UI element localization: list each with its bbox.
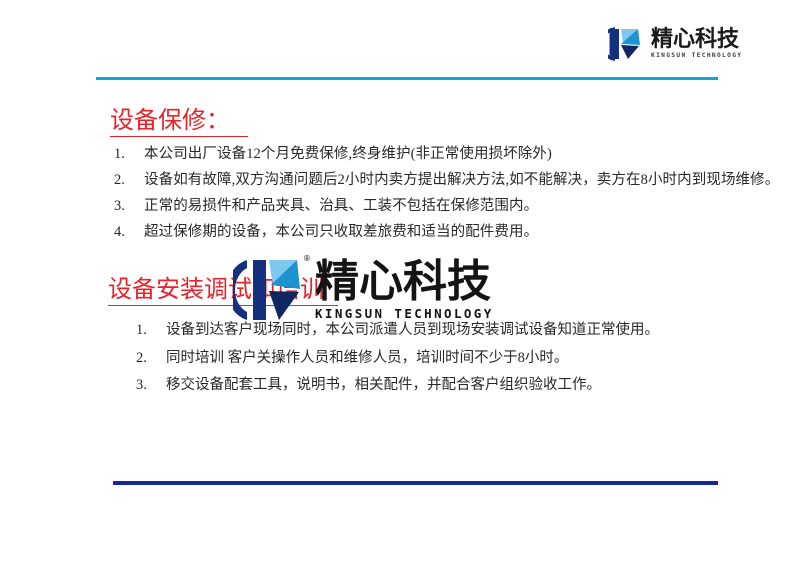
watermark-name-en: KINGSUN TECHNOLOGY xyxy=(315,308,494,321)
list-item: 4. 超过保修期的设备，本公司只收取差旅费和适当的配件费用。 xyxy=(114,222,794,243)
list-item-number: 1. xyxy=(136,320,158,341)
header-brand-logo: 精心科技 KINGSUN TECHNOLOGY xyxy=(608,20,768,68)
list-item: 1. 设备到达客户现场同时，本公司派遣人员到现场安装调试设备知道正常使用。 xyxy=(136,320,796,341)
list-item: 2. 同时培训 客户关操作人员和维修人员，培训时间不少于8小时。 xyxy=(136,348,796,369)
header-divider-rule xyxy=(96,77,718,80)
list-item-number: 4. xyxy=(114,222,136,243)
list-item-number: 3. xyxy=(136,375,158,396)
brand-name-cn: 精心科技 xyxy=(651,29,742,51)
footer-divider-rule xyxy=(113,481,718,485)
list-item-number: 2. xyxy=(114,170,136,191)
list-item-text: 超过保修期的设备，本公司只收取差旅费和适当的配件费用。 xyxy=(144,222,794,243)
slide-canvas: 精心科技 KINGSUN TECHNOLOGY 设备保修： 1. 本公司出厂设备… xyxy=(0,0,800,566)
list-item-text: 设备如有故障,双方沟通问题后2小时内卖方提出解决方法,如不能解决，卖方在8小时内… xyxy=(144,170,794,191)
list-item-text: 正常的易损件和产品夹具、治具、工装不包括在保修范围内。 xyxy=(144,196,794,217)
list-item-text: 设备到达客户现场同时，本公司派遣人员到现场安装调试设备知道正常使用。 xyxy=(166,320,796,341)
list-item-number: 2. xyxy=(136,348,158,369)
watermark-wordmark: 精心科技 KINGSUN TECHNOLOGY xyxy=(315,260,494,321)
watermark-name-cn: 精心科技 xyxy=(315,260,494,304)
registered-mark: ® xyxy=(303,254,311,263)
list-item-number: 1. xyxy=(114,144,136,165)
list-item-text: 移交设备配套工具，说明书，相关配件，并配合客户组织验收工作。 xyxy=(166,375,796,396)
brand-name-en: KINGSUN TECHNOLOGY xyxy=(651,53,742,59)
kingsun-logo-icon xyxy=(608,25,646,63)
installation-item-list: 1. 设备到达客户现场同时，本公司派遣人员到现场安装调试设备知道正常使用。 2.… xyxy=(136,320,796,403)
list-item: 3. 移交设备配套工具，说明书，相关配件，并配合客户组织验收工作。 xyxy=(136,375,796,396)
list-item-number: 3. xyxy=(114,196,136,217)
header-brand-wordmark: 精心科技 KINGSUN TECHNOLOGY xyxy=(651,29,742,59)
list-item: 1. 本公司出厂设备12个月免费保修,终身维护(非正常使用损坏除外) xyxy=(114,144,794,165)
warranty-item-list: 1. 本公司出厂设备12个月免费保修,终身维护(非正常使用损坏除外) 2. 设备… xyxy=(114,144,794,248)
list-item: 3. 正常的易损件和产品夹具、治具、工装不包括在保修范围内。 xyxy=(114,196,794,217)
list-item-text: 本公司出厂设备12个月免费保修,终身维护(非正常使用损坏除外) xyxy=(144,144,794,165)
section-heading-warranty: 设备保修： xyxy=(110,108,248,137)
list-item: 2. 设备如有故障,双方沟通问题后2小时内卖方提出解决方法,如不能解决，卖方在8… xyxy=(114,170,794,191)
list-item-text: 同时培训 客户关操作人员和维修人员，培训时间不少于8小时。 xyxy=(166,348,796,369)
section-heading-installation: 设备安装调试和培训 xyxy=(108,277,338,306)
